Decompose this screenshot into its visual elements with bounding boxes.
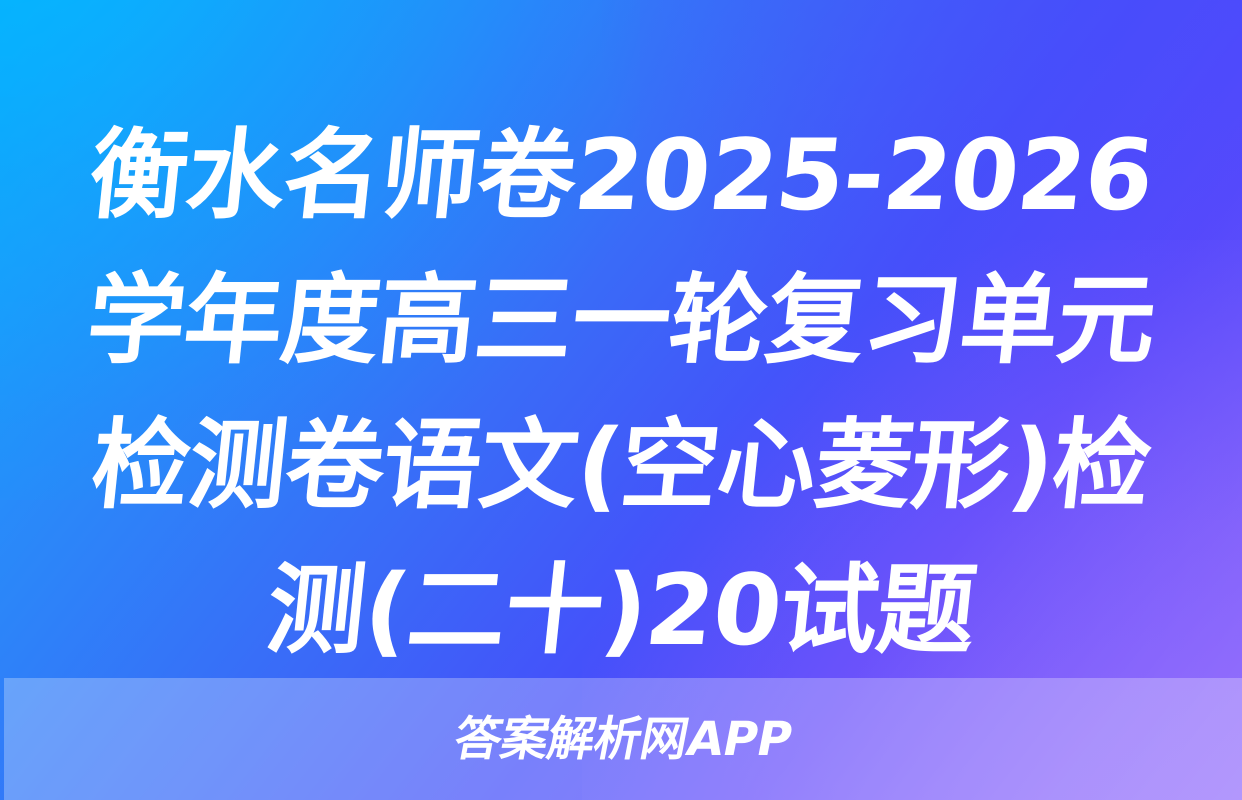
title-line-1: 衡水名师卷2025-2026	[0, 104, 1242, 249]
title-line-2: 学年度高三一轮复习单元	[0, 249, 1242, 394]
app-brand-label: 答案解析网APP	[450, 716, 795, 763]
title-line-4: 测(二十)20试题	[0, 539, 1242, 684]
footer-band: 答案解析网APP	[4, 678, 1242, 800]
poster-title: 衡水名师卷2025-2026 学年度高三一轮复习单元 检测卷语文(空心菱形)检 …	[0, 0, 1242, 684]
poster-canvas: 衡水名师卷2025-2026 学年度高三一轮复习单元 检测卷语文(空心菱形)检 …	[0, 0, 1242, 800]
title-line-3: 检测卷语文(空心菱形)检	[0, 394, 1242, 539]
